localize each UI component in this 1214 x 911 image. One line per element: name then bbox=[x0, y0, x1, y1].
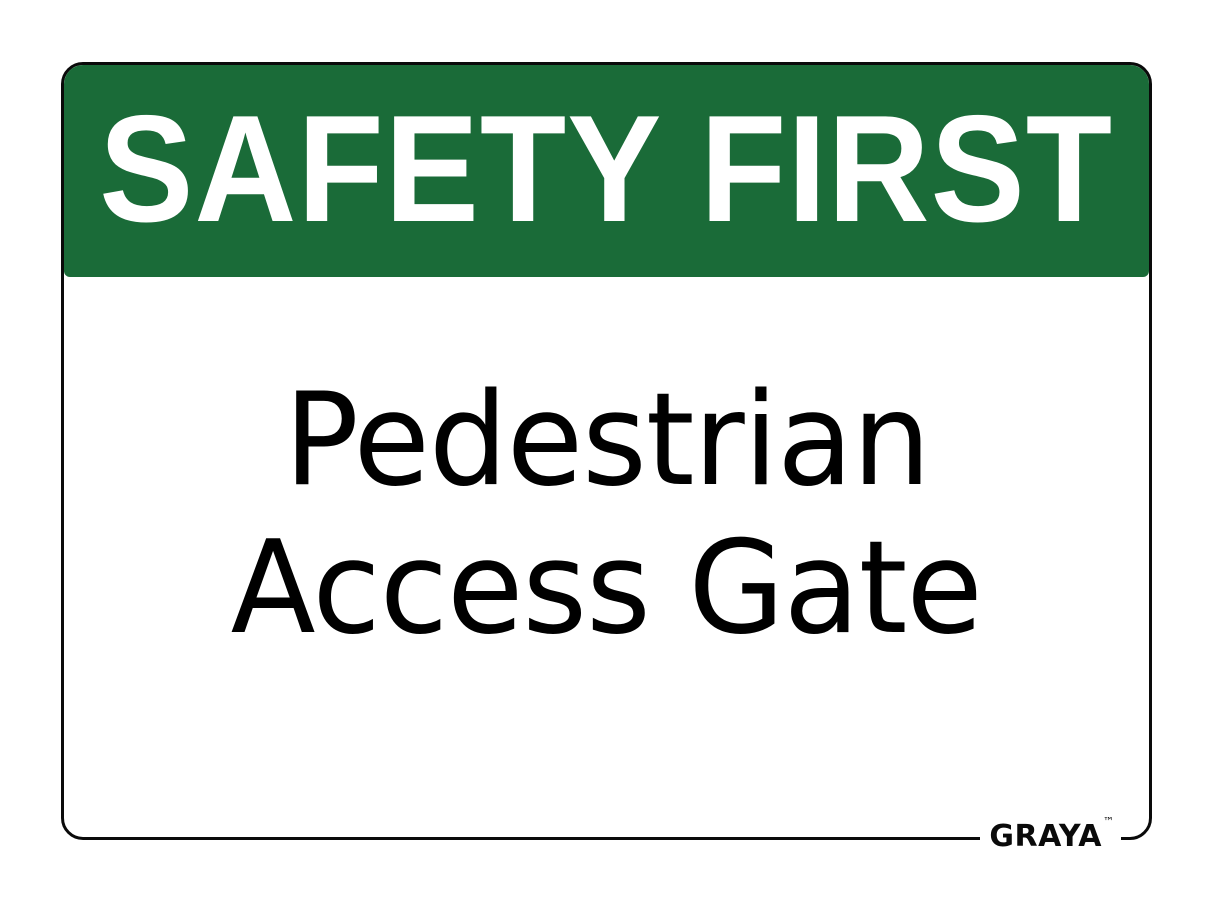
trademark-icon: ™ bbox=[1103, 816, 1114, 827]
brand-logo: GRAYA ™ bbox=[980, 814, 1121, 860]
sign-header-title: SAFETY FIRST bbox=[100, 93, 1114, 245]
sign-message-line-2: Access Gate bbox=[231, 515, 982, 663]
sign-message-line-1: Pedestrian bbox=[283, 367, 929, 515]
sign-body-area: Pedestrian Access Gate bbox=[64, 277, 1149, 837]
brand-name-text: GRAYA bbox=[989, 822, 1102, 852]
sign-header-band: SAFETY FIRST bbox=[64, 65, 1149, 277]
safety-sign-plate: SAFETY FIRST Pedestrian Access Gate GRAY… bbox=[61, 62, 1152, 840]
